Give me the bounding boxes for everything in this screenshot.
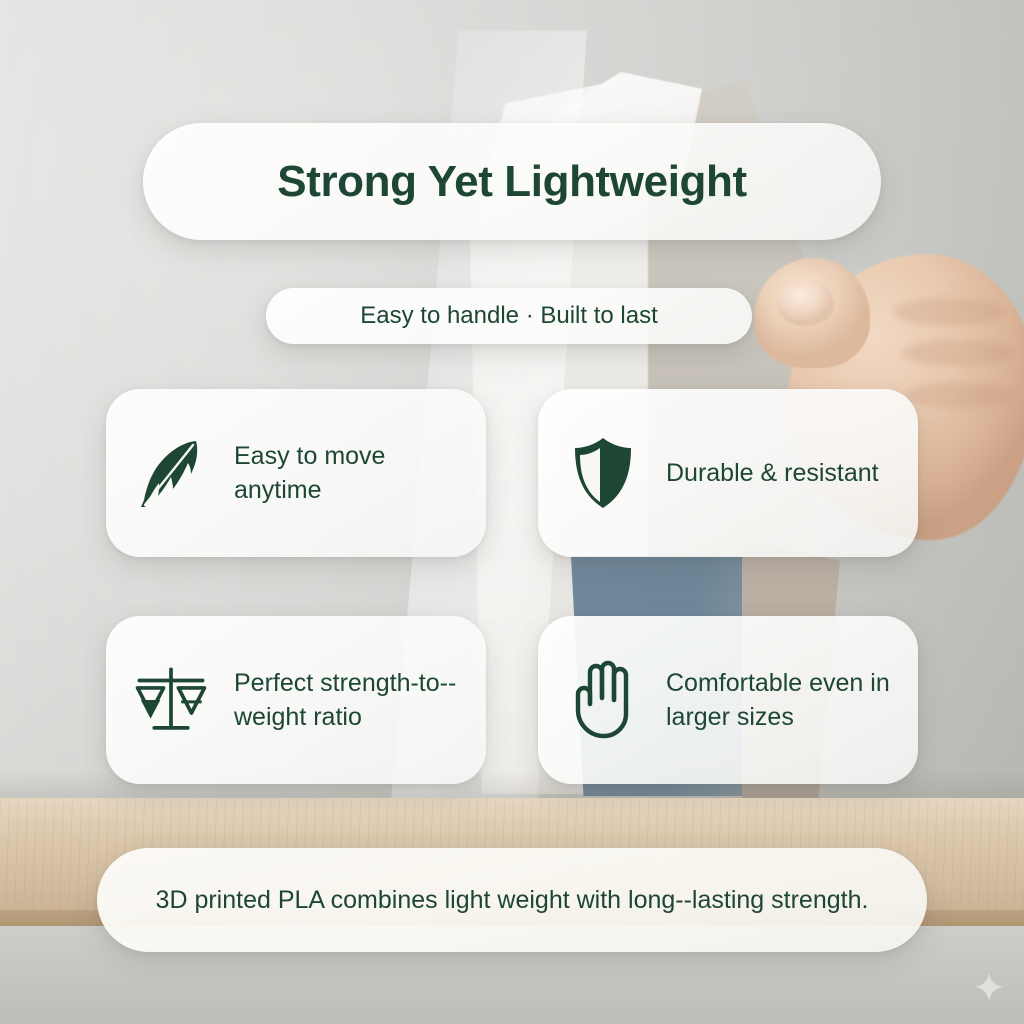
hand-thumbnail: [778, 280, 834, 326]
infographic-canvas: Strong Yet Lightweight Easy to handle · …: [0, 0, 1024, 1024]
feather-icon: [132, 430, 210, 516]
footer-pill: 3D printed PLA combines light weight wit…: [97, 848, 927, 952]
feature-label: Durable & resistant: [666, 456, 879, 491]
feature-card-durable[interactable]: Durable & resistant: [538, 389, 918, 557]
shield-icon: [564, 430, 642, 516]
page-subtitle: Easy to handle · Built to last: [360, 302, 658, 330]
hand-knuckle-3: [906, 382, 1016, 408]
hand-knuckle-2: [902, 340, 1014, 366]
page-title: Strong Yet Lightweight: [277, 157, 747, 207]
hand-knuckle-1: [894, 298, 1004, 326]
title-pill: Strong Yet Lightweight: [143, 123, 881, 240]
feature-card-strength-ratio[interactable]: Perfect strength-to--weight ratio: [106, 616, 486, 784]
sparkle-icon: [974, 972, 1004, 1002]
balance-scale-icon: [132, 657, 210, 743]
subtitle-pill: Easy to handle · Built to last: [266, 288, 752, 344]
feature-label: Easy to move anytime: [234, 439, 460, 508]
feature-card-comfortable[interactable]: Comfortable even in larger sizes: [538, 616, 918, 784]
footer-caption: 3D printed PLA combines light weight wit…: [110, 883, 915, 918]
feature-card-easy-to-move[interactable]: Easy to move anytime: [106, 389, 486, 557]
feature-label: Perfect strength-to--weight ratio: [234, 666, 460, 735]
open-hand-icon: [564, 657, 642, 743]
feature-label: Comfortable even in larger sizes: [666, 666, 892, 735]
